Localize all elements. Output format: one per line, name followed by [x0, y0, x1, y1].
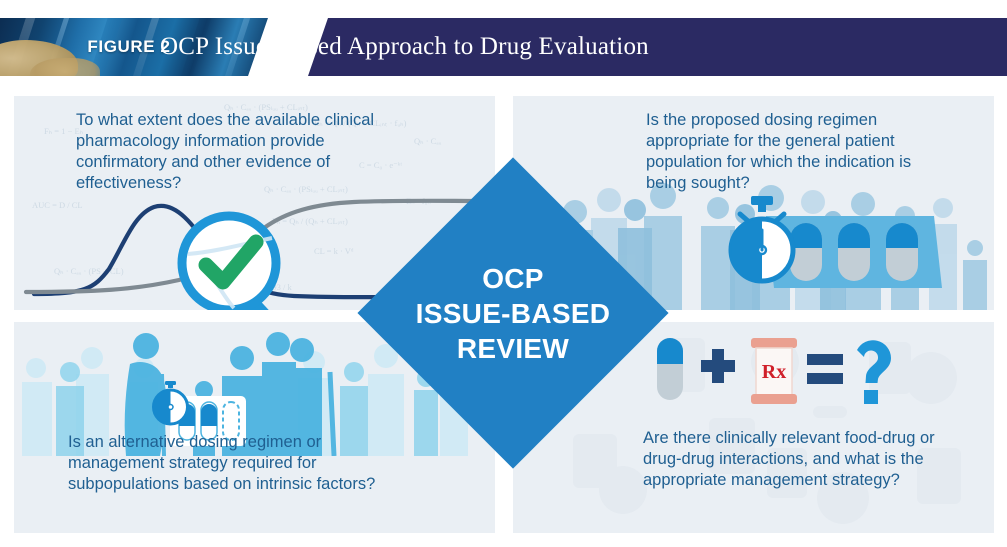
diamond-line-2: ISSUE-BASED — [416, 296, 611, 331]
question-text: Are there clinically relevant food-drug … — [643, 428, 963, 491]
pregnant-silhouette — [133, 333, 159, 359]
plus-icon — [701, 349, 735, 383]
figure-header-banner: FIGURE 2 OCP Issue–Based Approach to Dru… — [0, 18, 1007, 76]
capsule-icon — [838, 223, 870, 281]
capsule-icon — [886, 223, 918, 281]
interaction-equation-icon-group: Rx — [653, 330, 893, 422]
rx-label: Rx — [762, 361, 786, 383]
dosing-icon-group — [728, 196, 958, 300]
diamond-line-1: OCP — [482, 261, 544, 296]
question-text: To what extent does the available clinic… — [76, 110, 376, 194]
pill-bottle-rx-icon: Rx — [751, 338, 797, 404]
magnifying-glass-icon — [174, 208, 294, 310]
figure-title: OCP Issue–Based Approach to Drug Evaluat… — [160, 18, 649, 76]
equals-icon — [807, 354, 843, 384]
question-mark-icon — [857, 340, 891, 404]
figure-canvas: FIGURE 2 OCP Issue–Based Approach to Dru… — [0, 0, 1007, 547]
stopwatch-icon — [731, 196, 793, 281]
diamond-label: OCP ISSUE-BASED REVIEW — [358, 158, 668, 468]
question-text: Is an alternative dosing regimen or mana… — [68, 432, 378, 495]
stopwatch-icon — [154, 381, 188, 424]
center-diamond[interactable]: OCP ISSUE-BASED REVIEW — [358, 158, 668, 468]
question-text: Is the proposed dosing regimen appropria… — [646, 110, 956, 194]
formula-text: Qₕ · Cₐᵤ — [414, 136, 441, 147]
diamond-line-3: REVIEW — [457, 331, 569, 366]
